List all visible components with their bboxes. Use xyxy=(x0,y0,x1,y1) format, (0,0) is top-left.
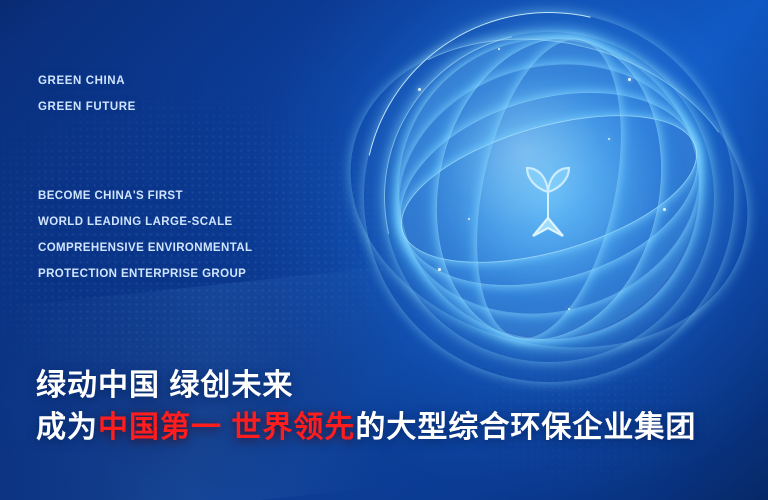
chinese-slogan-suffix: 的大型综合环保企业集团 xyxy=(355,411,696,444)
globe-ring-1 xyxy=(385,86,714,291)
english-slogan: BECOME CHINA'S FIRST WORLD LEADING LARGE… xyxy=(38,183,252,287)
sparkle-dot xyxy=(628,78,631,81)
sparkle-dot xyxy=(498,48,500,50)
tagline-line-1: GREEN CHINA xyxy=(38,68,136,94)
banner-image: GREEN CHINA GREEN FUTURE BECOME CHINA'S … xyxy=(0,0,768,500)
globe-glow xyxy=(318,0,768,418)
tagline-line-2: GREEN FUTURE xyxy=(38,94,136,120)
chinese-slogan-prefix: 成为 xyxy=(36,411,98,444)
globe-ring-3 xyxy=(368,29,730,350)
slogan-line-4: PROTECTION ENTERPRISE GROUP xyxy=(38,261,252,287)
slogan-line-2: WORLD LEADING LARGE-SCALE xyxy=(38,209,252,235)
globe-arc-2 xyxy=(322,0,768,424)
chinese-slogan-line-1: 绿动中国 绿创未来 xyxy=(36,366,696,406)
globe-core xyxy=(398,38,698,338)
globe-graphic xyxy=(378,18,718,358)
sparkle-dot xyxy=(438,268,441,271)
globe-ring-outer xyxy=(398,38,700,340)
sparkle-dot xyxy=(608,138,610,140)
sparkle-dot xyxy=(418,88,421,91)
sparkle-dot xyxy=(468,218,470,220)
sparkle-dot xyxy=(663,208,666,211)
slogan-line-3: COMPREHENSIVE ENVIRONMENTAL xyxy=(38,235,252,261)
chinese-slogan: 绿动中国 绿创未来 成为中国第一 世界领先的大型综合环保企业集团 xyxy=(36,366,696,450)
globe-ring-5 xyxy=(452,25,647,352)
sprout-leaf-icon xyxy=(513,158,583,248)
globe-arc-3 xyxy=(317,0,768,388)
english-tagline-top: GREEN CHINA GREEN FUTURE xyxy=(38,68,136,120)
globe-ring-4 xyxy=(409,16,690,361)
sparkle-dot xyxy=(568,308,570,310)
slogan-line-1: BECOME CHINA'S FIRST xyxy=(38,183,252,209)
chinese-slogan-highlight: 中国第一 世界领先 xyxy=(98,411,355,444)
globe-ring-2 xyxy=(377,59,721,318)
chinese-slogan-line-2: 成为中国第一 世界领先的大型综合环保企业集团 xyxy=(36,406,696,450)
